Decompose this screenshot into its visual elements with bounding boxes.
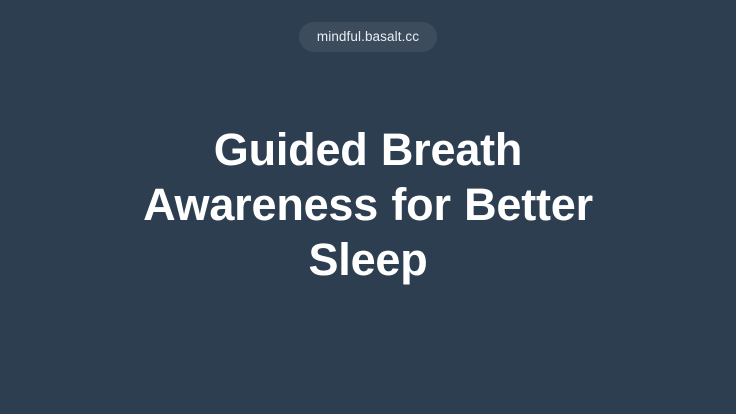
site-url-pill[interactable]: mindful.basalt.cc: [299, 22, 437, 52]
page-title-line-1: Guided Breath: [58, 122, 678, 177]
page-title-line-2: Awareness for Better: [58, 177, 678, 232]
page-title: Guided Breath Awareness for Better Sleep: [58, 122, 678, 293]
headline-container: Guided Breath Awareness for Better Sleep: [0, 0, 736, 414]
title-slide: mindful.basalt.cc Guided Breath Awarenes…: [0, 0, 736, 414]
page-title-line-3: Sleep: [58, 232, 678, 287]
url-pill-container: mindful.basalt.cc: [0, 22, 736, 52]
